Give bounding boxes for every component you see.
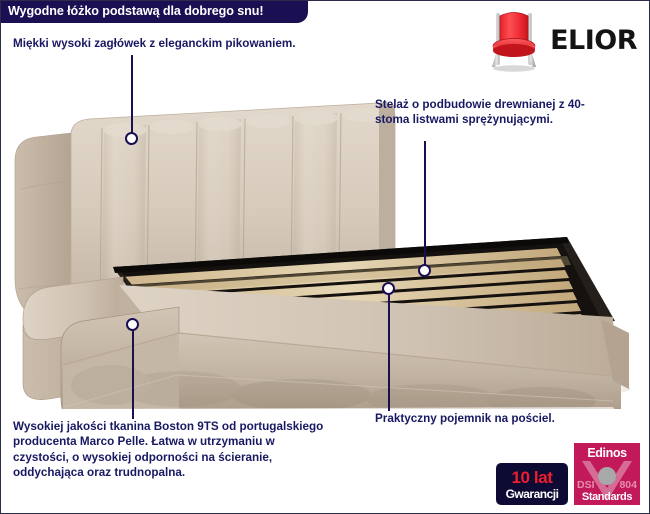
red-chair-icon [486, 7, 542, 73]
callout-marker-container [382, 282, 395, 295]
warranty-badge: 10 lat Gwarancji [496, 463, 568, 505]
callout-text-headboard: Miękki wysoki zagłówek z eleganckim piko… [13, 36, 413, 51]
badge-group: 10 lat Gwarancji Edinos DSI 804 Standard… [496, 443, 640, 505]
callout-marker-headboard [125, 132, 138, 145]
leader-line-container [388, 293, 390, 411]
edinos-number: 804 [619, 479, 637, 491]
leader-line-fabric [132, 329, 134, 419]
callout-text-slats: Stelaż o podbudowie drewnianej z 40-stom… [375, 97, 587, 128]
callout-marker-slats [418, 264, 431, 277]
callout-marker-fabric [126, 318, 139, 331]
edinos-standards: Standards [574, 491, 640, 503]
infographic-page: Wygodne łóżko podstawą dla dobrego snu! [0, 0, 650, 514]
edinos-name: Edinos [574, 446, 640, 460]
edinos-badge: Edinos DSI 804 Standards [574, 443, 640, 505]
leader-line-headboard [131, 55, 133, 133]
edinos-dsi: DSI [577, 479, 595, 491]
header-banner: Wygodne łóżko podstawą dla dobrego snu! [0, 0, 308, 23]
page-title: Wygodne łóżko podstawą dla dobrego snu! [8, 4, 263, 18]
leader-line-slats [424, 141, 426, 267]
callout-text-fabric: Wysokiej jakości tkanina Boston 9TS od p… [13, 419, 333, 481]
brand-logo: ELIOR [486, 7, 637, 73]
brand-name: ELIOR [550, 27, 637, 54]
warranty-label: Gwarancji [506, 488, 559, 500]
warranty-years: 10 lat [511, 469, 552, 486]
callout-text-container: Praktyczny pojemnik na pościel. [375, 411, 595, 426]
product-image [1, 89, 649, 409]
